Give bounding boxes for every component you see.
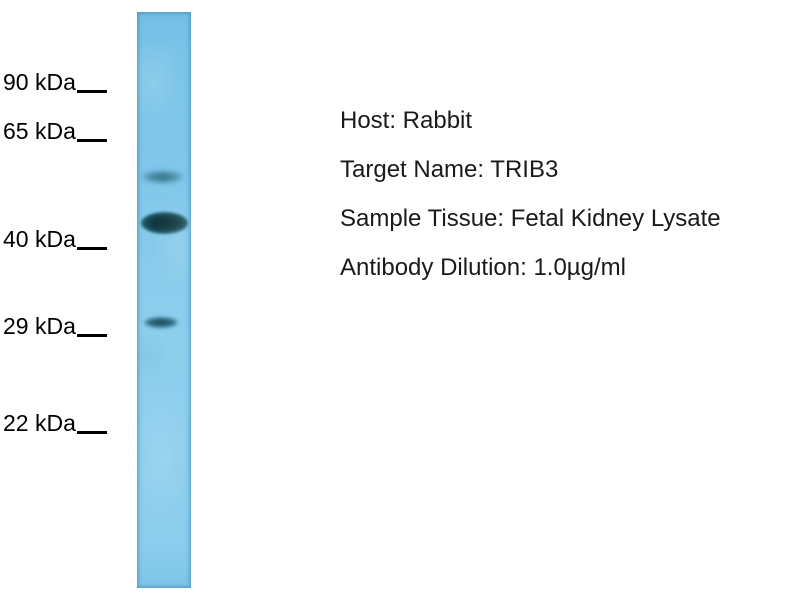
info-line-sample-tissue: Sample Tissue: Fetal Kidney Lysate bbox=[340, 194, 795, 243]
marker-22kda: 22 kDa bbox=[0, 408, 132, 438]
info-panel: Host: Rabbit Target Name: TRIB3 Sample T… bbox=[340, 96, 795, 292]
marker-29kda-tick bbox=[77, 334, 107, 337]
marker-65kda-label: 65 kDa bbox=[0, 118, 76, 145]
blot-band-lower bbox=[144, 317, 178, 328]
blot-band-faint-upper bbox=[142, 170, 184, 183]
blot-band-primary bbox=[141, 212, 188, 234]
marker-40kda-label: 40 kDa bbox=[0, 226, 76, 253]
blot-lane bbox=[137, 12, 191, 588]
info-line-host: Host: Rabbit bbox=[340, 96, 795, 145]
marker-22kda-tick bbox=[77, 431, 107, 434]
marker-40kda: 40 kDa bbox=[0, 224, 132, 254]
marker-90kda-label: 90 kDa bbox=[0, 69, 76, 96]
western-blot-figure: 90 kDa 65 kDa 40 kDa 29 kDa 22 kDa Host:… bbox=[0, 0, 800, 600]
marker-29kda-label: 29 kDa bbox=[0, 313, 76, 340]
info-line-antibody-dilution: Antibody Dilution: 1.0µg/ml bbox=[340, 243, 795, 292]
marker-65kda: 65 kDa bbox=[0, 116, 132, 146]
marker-40kda-tick bbox=[77, 247, 107, 250]
marker-90kda: 90 kDa bbox=[0, 67, 132, 97]
marker-65kda-tick bbox=[77, 139, 107, 142]
info-line-target-name: Target Name: TRIB3 bbox=[340, 145, 795, 194]
marker-22kda-label: 22 kDa bbox=[0, 410, 76, 437]
marker-29kda: 29 kDa bbox=[0, 311, 132, 341]
marker-90kda-tick bbox=[77, 90, 107, 93]
